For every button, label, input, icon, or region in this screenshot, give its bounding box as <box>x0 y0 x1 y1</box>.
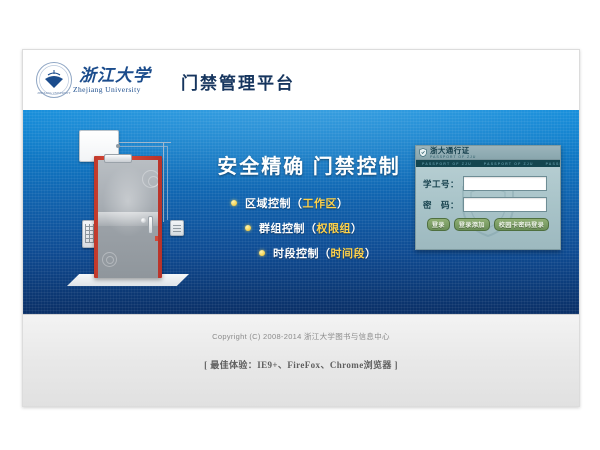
strip-text: PASSPORT OF ZJU <box>478 162 540 166</box>
hero-banner: 安全精确 门禁控制 区域控制（工作区） 群组控制（权限组） 时段控制（时间段） <box>23 110 579 314</box>
logo-university-en: Zhejiang University <box>73 85 151 94</box>
bullet-dot-icon <box>231 200 237 206</box>
feature-highlight: 权限组 <box>317 220 352 236</box>
feature-list: 区域控制（工作区） 群组控制（权限组） 时段控制（时间段） <box>199 195 419 261</box>
bullet-dot-icon <box>245 225 251 231</box>
feature-tail: ） <box>351 220 363 236</box>
zju-seal-icon: ZHEJIANG UNIVERSITY <box>35 61 73 99</box>
feature-text: 时段控制（ <box>273 245 331 261</box>
password-input[interactable] <box>463 197 547 212</box>
list-item: 区域控制（工作区） <box>199 195 419 211</box>
field-row-password: 密 码： <box>416 197 560 212</box>
logo-university-cn: 浙江大学 <box>79 67 151 84</box>
shield-icon <box>419 148 427 157</box>
list-item: 群组控制（权限组） <box>199 220 419 236</box>
bullet-dot-icon <box>259 250 265 256</box>
logo[interactable]: ZHEJIANG UNIVERSITY 浙江大学 Zhejiang Univer… <box>35 61 151 99</box>
login-form: 学工号： 密 码： 登录 登录添加 校园卡密码登录 <box>416 167 560 231</box>
strip-text: PASSPORT OF ZJU <box>416 162 478 166</box>
field-row-userid: 学工号： <box>416 176 560 191</box>
gear-decoration-icon <box>148 176 158 187</box>
slogan-block: 安全精确 门禁控制 区域控制（工作区） 群组控制（权限组） 时段控制（时间段） <box>199 150 419 270</box>
browser-support-note: [ 最佳体验：IE9+、FireFox、Chrome浏览器 ] <box>204 358 398 371</box>
login-panel-header: 浙大通行证 PASSPORT OF ZJU <box>416 146 560 160</box>
access-control-illustration <box>53 116 203 308</box>
copyright-text: Copyright (C) 2008-2014 浙江大学图书与信息中心 <box>212 331 390 342</box>
page-title: 门禁管理平台 <box>181 69 295 94</box>
security-door <box>94 156 162 278</box>
door-panel <box>98 160 158 278</box>
door-knob-icon <box>141 218 146 223</box>
userid-input[interactable] <box>463 176 547 191</box>
login-watermark-strip: PASSPORT OF ZJU PASSPORT OF ZJU PASSPORT… <box>416 160 560 167</box>
login-add-button[interactable]: 登录添加 <box>454 218 490 231</box>
wire-top-2 <box>117 146 167 148</box>
login-subtitle: PASSPORT OF ZJU <box>430 155 476 159</box>
login-title: 浙大通行证 <box>430 147 476 155</box>
gear-decoration-icon <box>106 256 114 264</box>
wire-right <box>163 142 165 222</box>
campus-card-login-button[interactable]: 校园卡密码登录 <box>494 218 549 231</box>
card-reader-icon <box>170 220 184 236</box>
page-card: ZHEJIANG UNIVERSITY 浙江大学 Zhejiang Univer… <box>22 49 580 407</box>
password-label: 密 码： <box>423 199 463 211</box>
strip-text: PASSPORT OF ZJU <box>540 162 560 166</box>
login-panel: 浙大通行证 PASSPORT OF ZJU PASSPORT OF ZJU PA… <box>415 145 561 250</box>
feature-highlight: 时间段 <box>331 245 366 261</box>
site-header: ZHEJIANG UNIVERSITY 浙江大学 Zhejiang Univer… <box>23 50 579 110</box>
feature-tail: ） <box>337 195 349 211</box>
feature-text: 区域控制（ <box>245 195 303 211</box>
feature-highlight: 工作区 <box>303 195 338 211</box>
door-status-led <box>155 236 158 241</box>
door-handle <box>148 216 153 234</box>
feature-text: 群组控制（ <box>259 220 317 236</box>
svg-text:ZHEJIANG UNIVERSITY: ZHEJIANG UNIVERSITY <box>37 91 71 95</box>
login-button-row: 登录 登录添加 校园卡密码登录 <box>416 218 560 231</box>
login-button[interactable]: 登录 <box>427 218 450 231</box>
userid-label: 学工号： <box>423 178 463 190</box>
site-footer: Copyright (C) 2008-2014 浙江大学图书与信息中心 [ 最佳… <box>23 314 579 407</box>
feature-tail: ） <box>365 245 377 261</box>
list-item: 时段控制（时间段） <box>199 245 419 261</box>
wire-right-2 <box>167 146 169 220</box>
slogan-title: 安全精确 门禁控制 <box>199 150 419 179</box>
door-closer <box>104 154 132 163</box>
